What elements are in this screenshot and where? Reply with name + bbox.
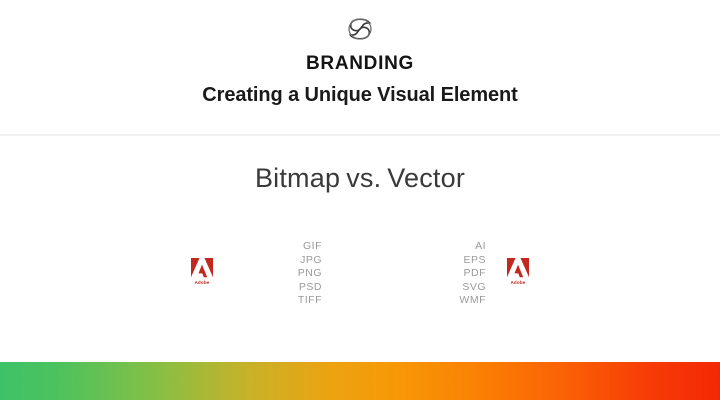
adobe-wordmark: Adobe — [510, 280, 525, 285]
slide-header: BRANDING Creating a Unique Visual Elemen… — [0, 0, 720, 136]
format-item: SVG — [398, 281, 486, 295]
format-item: GIF — [234, 240, 322, 254]
slide-root: BRANDING Creating a Unique Visual Elemen… — [0, 0, 720, 400]
format-item: EPS — [398, 254, 486, 268]
vector-format-list: AI EPS PDF SVG WMF — [398, 240, 486, 308]
format-item: PNG — [234, 267, 322, 281]
format-item: PSD — [234, 281, 322, 295]
page-subtitle: Creating a Unique Visual Element — [202, 84, 517, 106]
heading-right-term: Vector — [387, 163, 465, 193]
footer-gradient-bar — [0, 362, 720, 400]
format-item: JPG — [234, 254, 322, 268]
slide-body: Bitmapvs.Vector Adobe GIF JPG PNG PSD TI… — [0, 136, 720, 362]
format-item: PDF — [398, 267, 486, 281]
page-title: BRANDING — [306, 54, 414, 75]
adobe-wordmark: Adobe — [194, 280, 209, 285]
vector-adobe-logo-group: Adobe — [486, 240, 550, 285]
heading-left-term: Bitmap — [255, 163, 340, 193]
formats-row: Adobe GIF JPG PNG PSD TIFF AI EPS PDF SV… — [0, 240, 720, 308]
bitmap-format-list: GIF JPG PNG PSD TIFF — [234, 240, 322, 308]
format-item: TIFF — [234, 294, 322, 308]
bitmap-adobe-logo-group: Adobe — [170, 240, 234, 285]
adobe-logo-icon — [191, 258, 213, 279]
comparison-heading: Bitmapvs.Vector — [0, 163, 720, 194]
adobe-logo-icon — [507, 258, 529, 279]
creative-cloud-icon — [344, 13, 376, 45]
format-item: WMF — [398, 294, 486, 308]
format-item: AI — [398, 240, 486, 254]
heading-separator: vs. — [340, 163, 387, 193]
